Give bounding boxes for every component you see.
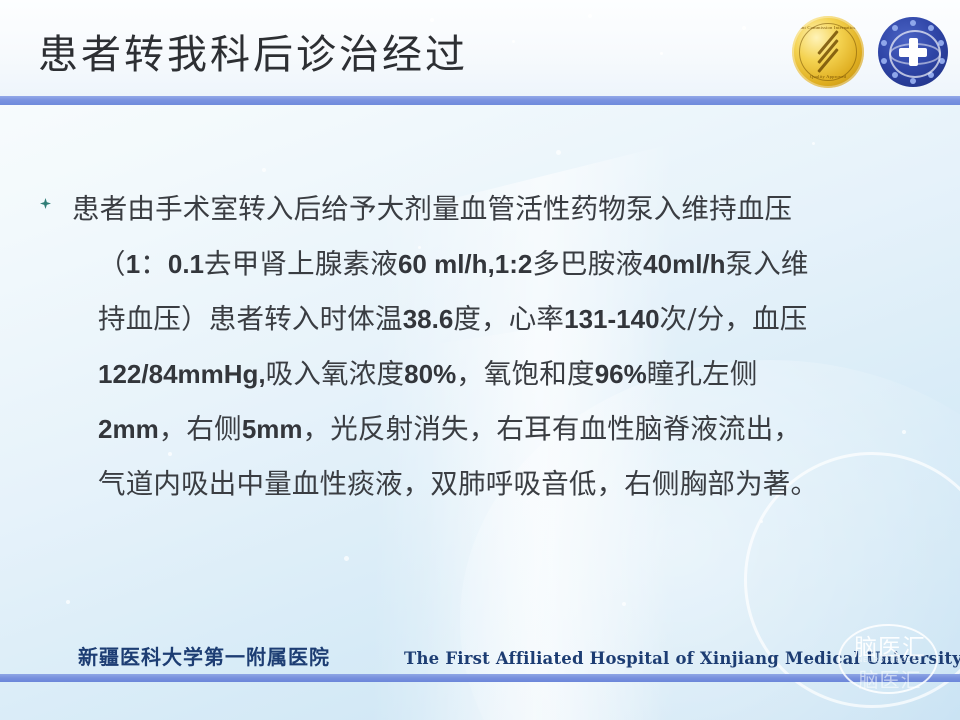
jci-monogram-icon bbox=[811, 37, 845, 67]
body-text: 次/分，血压 bbox=[660, 303, 808, 335]
body-value: 0.1 bbox=[168, 249, 204, 279]
body-value: 38.6 bbox=[403, 304, 454, 334]
jci-seal-icon: Joint Commission International Quality A… bbox=[792, 16, 864, 88]
body-value: 5mm bbox=[242, 414, 303, 444]
body-text: （ bbox=[98, 248, 126, 280]
jci-ring-top-text: Joint Commission International bbox=[792, 25, 864, 30]
body-text: 气道内吸出中量血性痰液，双肺呼吸音低，右侧胸部为著。 bbox=[98, 468, 818, 500]
body-line: 持血压）患者转入时体温38.6度，心率131-140次/分，血压 bbox=[72, 292, 930, 347]
body-text: 去甲肾上腺素液 bbox=[204, 248, 398, 280]
footer-divider bbox=[0, 674, 960, 682]
body-text: 泵入维 bbox=[726, 248, 809, 280]
body-text: ： bbox=[140, 248, 168, 280]
body-text: ，光反射消失，右耳有血性脑脊液流出， bbox=[303, 413, 802, 445]
footer-hospital-name-cn: 新疆医科大学第一附属医院 bbox=[78, 641, 330, 670]
body-line: 患者由手术室转入后给予大剂量血管活性药物泵入维持血压 bbox=[72, 182, 930, 237]
body-line: 122/84mmHg,吸入氧浓度80%，氧饱和度96%瞳孔左侧 bbox=[72, 347, 930, 402]
presentation-slide: 患者转我科后诊治经过 Joint Commission Internationa… bbox=[0, 0, 960, 720]
body-value: 131-140 bbox=[564, 304, 659, 334]
footer-hospital-name-en: The First Affiliated Hospital of Xinjian… bbox=[404, 649, 960, 668]
header-divider bbox=[0, 96, 960, 105]
body-text: 度，心率 bbox=[453, 303, 564, 335]
page-title: 患者转我科后诊治经过 bbox=[38, 22, 468, 80]
body-value: 40ml/h bbox=[643, 249, 725, 279]
body-text: 患者由手术室转入后给予大剂量血管活性药物泵入维持血压 bbox=[72, 193, 792, 225]
hospital-emblem-icon bbox=[878, 17, 948, 87]
body-text: 多巴胺液 bbox=[532, 248, 643, 280]
body-text: 持血压）患者转入时体温 bbox=[98, 303, 403, 335]
medical-cross-icon bbox=[899, 38, 927, 66]
body-text: ，氧饱和度 bbox=[456, 358, 595, 390]
body-text: 瞳孔左侧 bbox=[647, 358, 758, 390]
body-value: 60 ml/h,1:2 bbox=[398, 249, 532, 279]
body-line: 2mm，右侧5mm，光反射消失，右耳有血性脑脊液流出， bbox=[72, 402, 930, 457]
body-value: 1 bbox=[126, 249, 140, 279]
body-value: 122/84mmHg, bbox=[98, 359, 266, 389]
jci-ring-bottom-text: Quality Approved bbox=[792, 74, 864, 79]
body-line: （1：0.1去甲肾上腺素液60 ml/h,1:2多巴胺液40ml/h泵入维 bbox=[72, 237, 930, 292]
body-paragraph: 患者由手术室转入后给予大剂量血管活性药物泵入维持血压（1：0.1去甲肾上腺素液6… bbox=[34, 182, 930, 512]
body-line: 气道内吸出中量血性痰液，双肺呼吸音低，右侧胸部为著。 bbox=[72, 457, 930, 512]
body-text: 吸入氧浓度 bbox=[266, 358, 405, 390]
body-value: 80% bbox=[404, 359, 456, 389]
slide-header: 患者转我科后诊治经过 Joint Commission Internationa… bbox=[0, 0, 960, 96]
body-value: 96% bbox=[595, 359, 647, 389]
header-logos: Joint Commission International Quality A… bbox=[792, 16, 948, 88]
body-value: 2mm bbox=[98, 414, 159, 444]
body-text: ，右侧 bbox=[159, 413, 242, 445]
slide-body: 患者由手术室转入后给予大剂量血管活性药物泵入维持血压（1：0.1去甲肾上腺素液6… bbox=[34, 182, 930, 512]
